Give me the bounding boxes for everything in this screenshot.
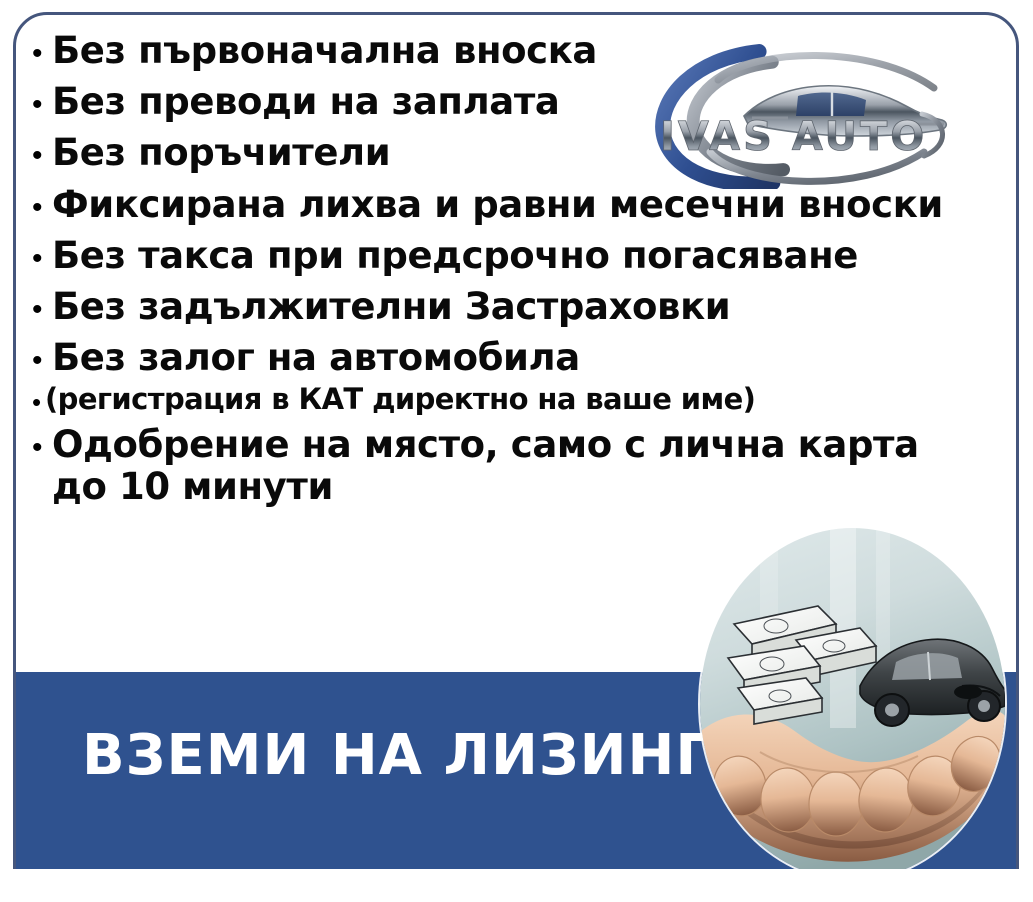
bullet-dot-icon: • <box>32 39 52 69</box>
list-item: • Без задължителни Застраховки <box>32 286 992 328</box>
list-item: • Без поръчители <box>32 132 992 174</box>
list-item: • Одобрение на място, само с лична карта… <box>32 424 992 508</box>
list-item-label: Без поръчители <box>52 132 390 174</box>
list-item-note: • (регистрация в КАТ директно на ваше им… <box>32 383 992 416</box>
list-item: • Фиксирана лихва и равни месечни вноски <box>32 184 992 226</box>
bullet-dot-icon: • <box>32 90 52 120</box>
bullet-dot-icon: • <box>32 295 52 325</box>
bullet-dot-icon: • <box>32 244 52 274</box>
bullet-dot-icon: • <box>32 389 45 415</box>
list-item: • Без залог на автомобила <box>32 337 992 379</box>
list-item: • Без такса при предсрочно погасяване <box>32 235 992 277</box>
list-item-label: Одобрение на място, само с лична карта д… <box>52 424 919 508</box>
bullet-dot-icon: • <box>32 433 52 463</box>
list-item-label: Без преводи на заплата <box>52 81 559 123</box>
list-item-label: Без задължителни Застраховки <box>52 286 730 328</box>
list-item: • Без първоначална вноска <box>32 30 992 72</box>
bottom-white-strip <box>13 869 1019 902</box>
list-item-label: Без първоначална вноска <box>52 30 597 72</box>
list-item-note-label: (регистрация в КАТ директно на ваше име) <box>45 383 755 416</box>
list-item: • Без преводи на заплата <box>32 81 992 123</box>
cta-banner-headline: ВЗЕМИ НА ЛИЗИНГ <box>82 728 712 784</box>
list-item-label: Без залог на автомобила <box>52 337 580 379</box>
list-item-label: Фиксирана лихва и равни месечни вноски <box>52 184 943 226</box>
poster-root: IVAS AUTO • Без първоначална вноска • Бе… <box>0 0 1033 902</box>
benefits-list: • Без първоначална вноска • Без преводи … <box>32 30 992 518</box>
bullet-dot-icon: • <box>32 141 52 171</box>
hands-money-car-photo <box>700 528 1005 880</box>
bullet-dot-icon: • <box>32 346 52 376</box>
bullet-dot-icon: • <box>32 193 52 223</box>
list-item-label: Без такса при предсрочно погасяване <box>52 235 858 277</box>
